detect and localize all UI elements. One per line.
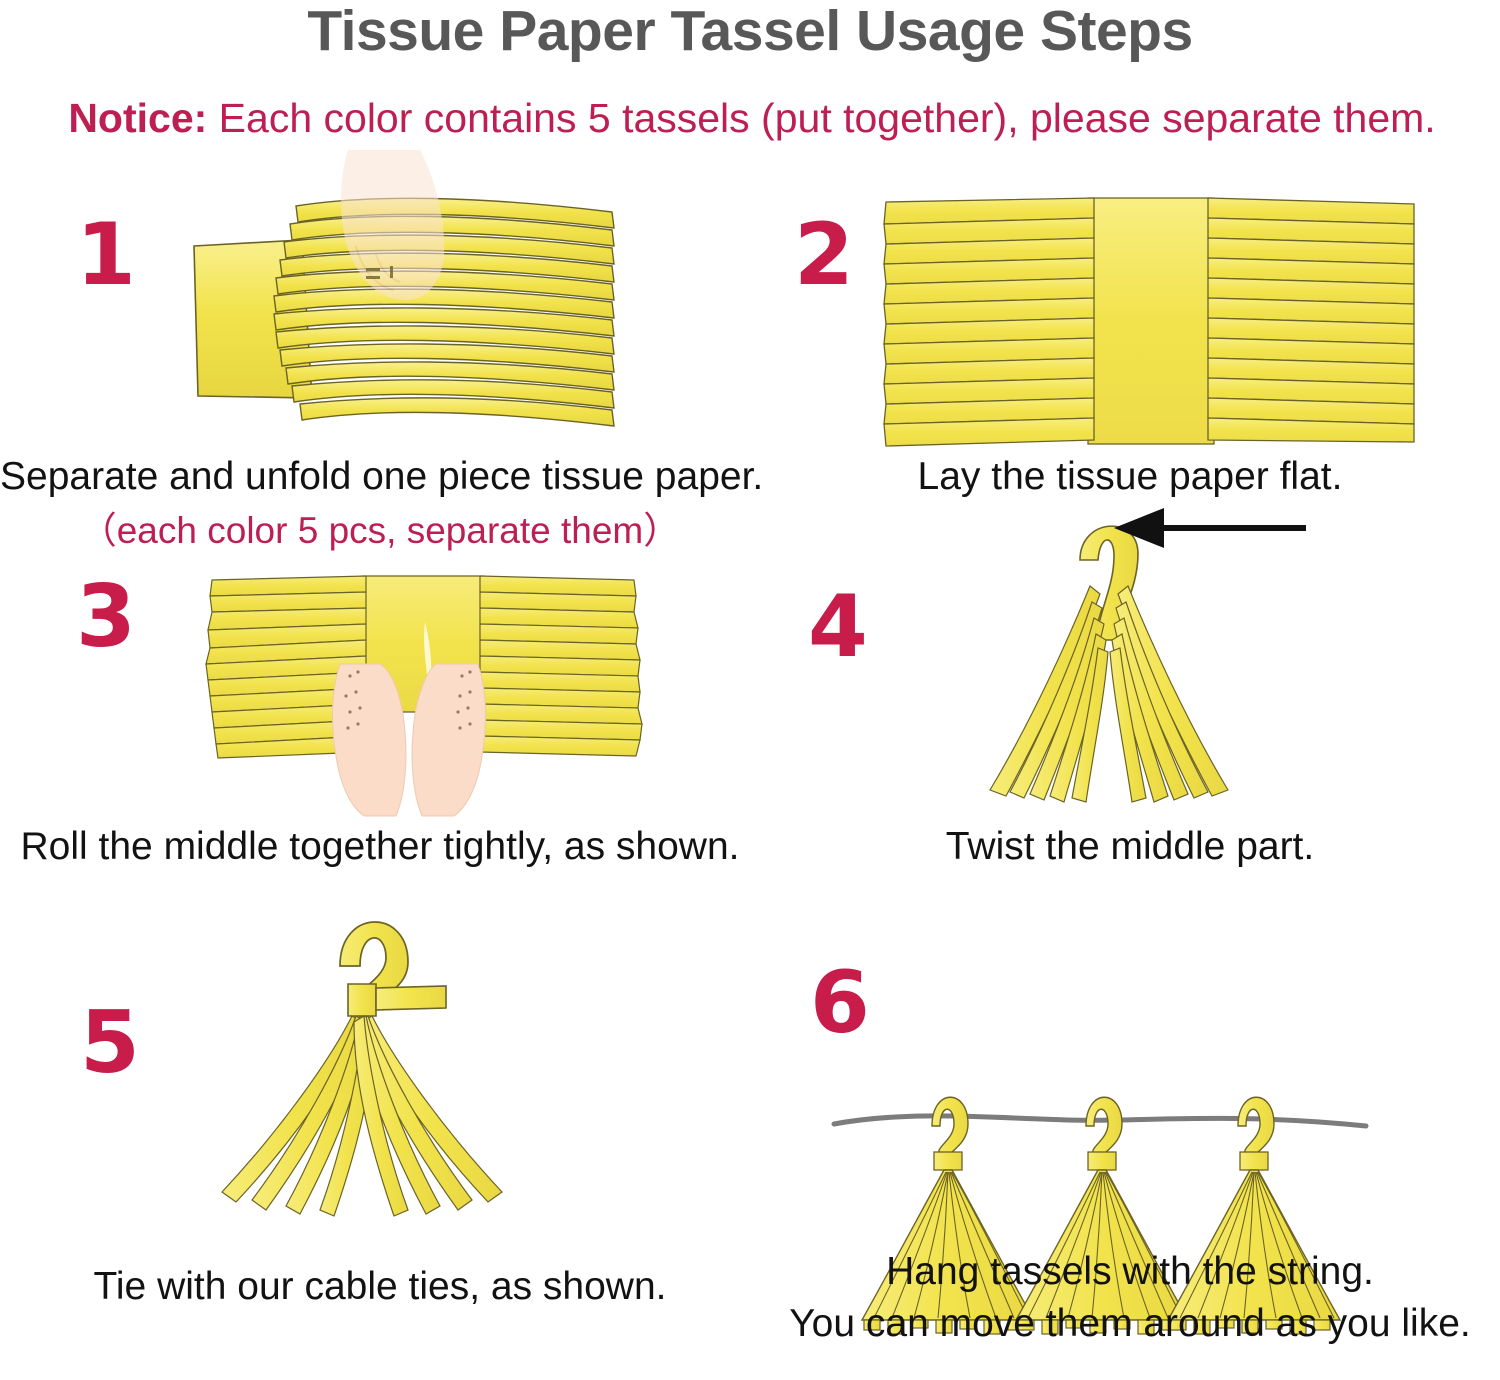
step-number-2: 2	[794, 212, 854, 298]
step-6-caption: Hang tassels with the string.	[760, 1250, 1500, 1294]
step-6: 6	[760, 890, 1500, 1310]
step-2-illustration	[880, 192, 1420, 452]
step-6-caption-line2: You can move them around as you like.	[760, 1302, 1500, 1346]
step-4-illustration	[940, 490, 1380, 820]
step-1-subcaption: （each color 5 pcs, separate them）	[0, 510, 760, 551]
step-number-5: 5	[80, 1000, 140, 1086]
notice-text: Each color contains 5 tassels (put toget…	[207, 95, 1435, 141]
step-number-6: 6	[810, 960, 870, 1046]
step-1-caption: Separate and unfold one piece tissue pap…	[0, 455, 760, 499]
step-number-1: 1	[76, 212, 136, 298]
step-3: 3	[0, 550, 760, 880]
pointer-arrow	[1114, 508, 1306, 548]
step-4: 4	[760, 490, 1500, 880]
instruction-sheet: Tissue Paper Tassel Usage Steps Notice: …	[0, 0, 1500, 1370]
step-5-caption: Tie with our cable ties, as shown.	[0, 1265, 760, 1309]
step-5: 5	[0, 890, 760, 1310]
step-5-illustration	[190, 900, 610, 1240]
step-3-illustration	[150, 560, 670, 820]
step-3-caption: Roll the middle together tightly, as sho…	[0, 825, 760, 869]
step-number-4: 4	[808, 584, 868, 670]
steps-grid: 1	[0, 150, 1500, 1370]
notice-line: Notice: Each color contains 5 tassels (p…	[10, 96, 1494, 141]
page-title: Tissue Paper Tassel Usage Steps	[0, 2, 1500, 62]
step-number-3: 3	[76, 574, 136, 660]
step-4-caption: Twist the middle part.	[760, 825, 1500, 869]
notice-label: Notice:	[68, 95, 207, 141]
step-1: 1	[0, 150, 760, 580]
step-1-illustration	[180, 150, 640, 450]
